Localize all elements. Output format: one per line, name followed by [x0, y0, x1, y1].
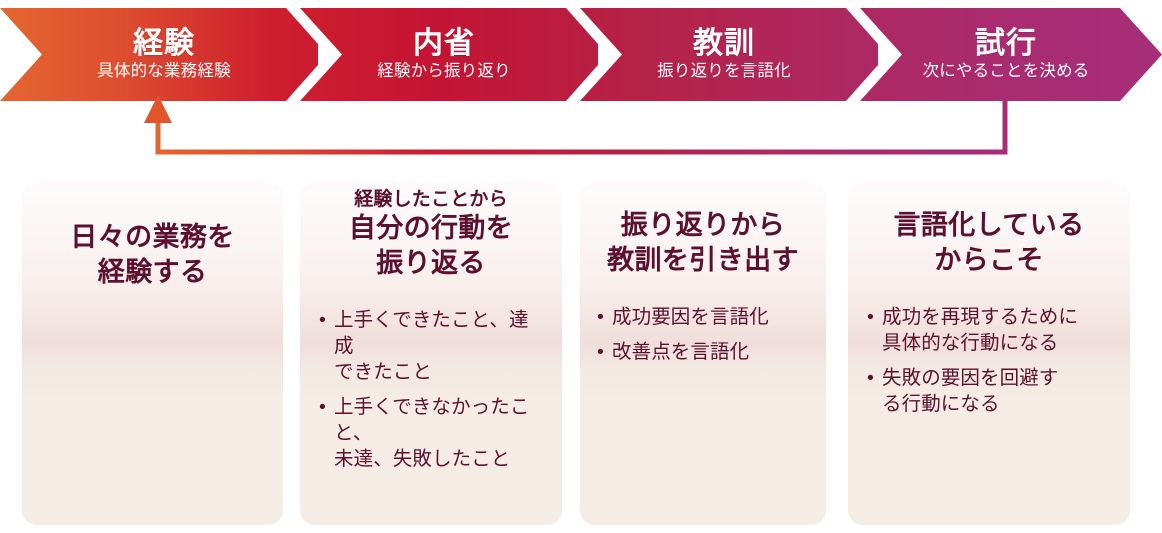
detail-card-4[interactable]: 言語化している からこそ • 成功を再現するために 具体的な行動になる • 失敗…: [848, 182, 1130, 525]
detail-card-3-content: 振り返りから 教訓を引き出す • 成功要因を言語化 • 改善点を言語化: [580, 182, 826, 525]
list-item: • 改善点を言語化: [596, 340, 812, 366]
detail-card-1-content: 日々の業務を 経験する: [22, 182, 283, 525]
detail-card-2-heading: 自分の行動を 振り返る: [314, 211, 548, 281]
detail-card-4-heading: 言語化している からこそ: [862, 208, 1116, 278]
list-item: • 成功を再現するために 具体的な行動になる: [866, 305, 1116, 357]
detail-card-3-bullets: • 成功要因を言語化 • 改善点を言語化: [594, 305, 812, 366]
list-item-text: 上手くできたこと、達成 できたこと: [334, 308, 548, 386]
detail-cards-row: 日々の業務を 経験する 経験したことから 自分の行動を 振り返る • 上手くでき…: [0, 182, 1162, 527]
list-item: • 成功要因を言語化: [596, 305, 812, 331]
detail-card-3[interactable]: 振り返りから 教訓を引き出す • 成功要因を言語化 • 改善点を言語化: [580, 182, 826, 525]
chevron-band-graphic: [0, 8, 1162, 101]
feedback-loop-graphic: [0, 95, 1162, 175]
list-item-text: 成功を再現するために 具体的な行動になる: [882, 305, 1116, 357]
detail-card-1-heading: 日々の業務を 経験する: [36, 220, 269, 290]
list-item: • 上手くできたこと、達成 できたこと: [318, 308, 548, 386]
bullet-dot-icon: •: [867, 305, 874, 331]
detail-card-4-content: 言語化している からこそ • 成功を再現するために 具体的な行動になる • 失敗…: [848, 182, 1130, 525]
bullet-dot-icon: •: [867, 366, 874, 392]
detail-card-2-bullets: • 上手くできたこと、達成 できたこと • 上手くできなかったこと、 未達、失敗…: [314, 308, 548, 473]
list-item-text: 成功要因を言語化: [612, 305, 812, 331]
list-item-text: 失敗の要因を回避す る行動になる: [882, 366, 1116, 418]
feedback-loop: [0, 95, 1162, 175]
list-item-text: 上手くできなかったこと、 未達、失敗したこと: [334, 395, 548, 473]
bullet-dot-icon: •: [597, 340, 604, 366]
detail-card-2-content: 経験したことから 自分の行動を 振り返る • 上手くできたこと、達成 できたこと…: [300, 182, 562, 525]
detail-card-2-caption: 経験したことから: [314, 188, 548, 211]
list-item-text: 改善点を言語化: [612, 340, 812, 366]
bullet-dot-icon: •: [319, 395, 326, 421]
list-item: • 失敗の要因を回避す る行動になる: [866, 366, 1116, 418]
list-item: • 上手くできなかったこと、 未達、失敗したこと: [318, 395, 548, 473]
bullet-dot-icon: •: [597, 305, 604, 331]
process-chevron-band: 経験 具体的な業務経験 内省 経験から振り返り 教訓 振り返りを言語化 試行 次…: [0, 8, 1162, 101]
bullet-dot-icon: •: [319, 308, 326, 334]
detail-card-4-bullets: • 成功を再現するために 具体的な行動になる • 失敗の要因を回避す る行動にな…: [862, 305, 1116, 418]
feedback-loop-line: [158, 97, 1005, 152]
detail-card-3-heading: 振り返りから 教訓を引き出す: [594, 208, 812, 278]
detail-card-2[interactable]: 経験したことから 自分の行動を 振り返る • 上手くできたこと、達成 できたこと…: [300, 182, 562, 525]
detail-card-1[interactable]: 日々の業務を 経験する: [22, 182, 283, 525]
feedback-arrow-head-icon: [144, 95, 172, 123]
